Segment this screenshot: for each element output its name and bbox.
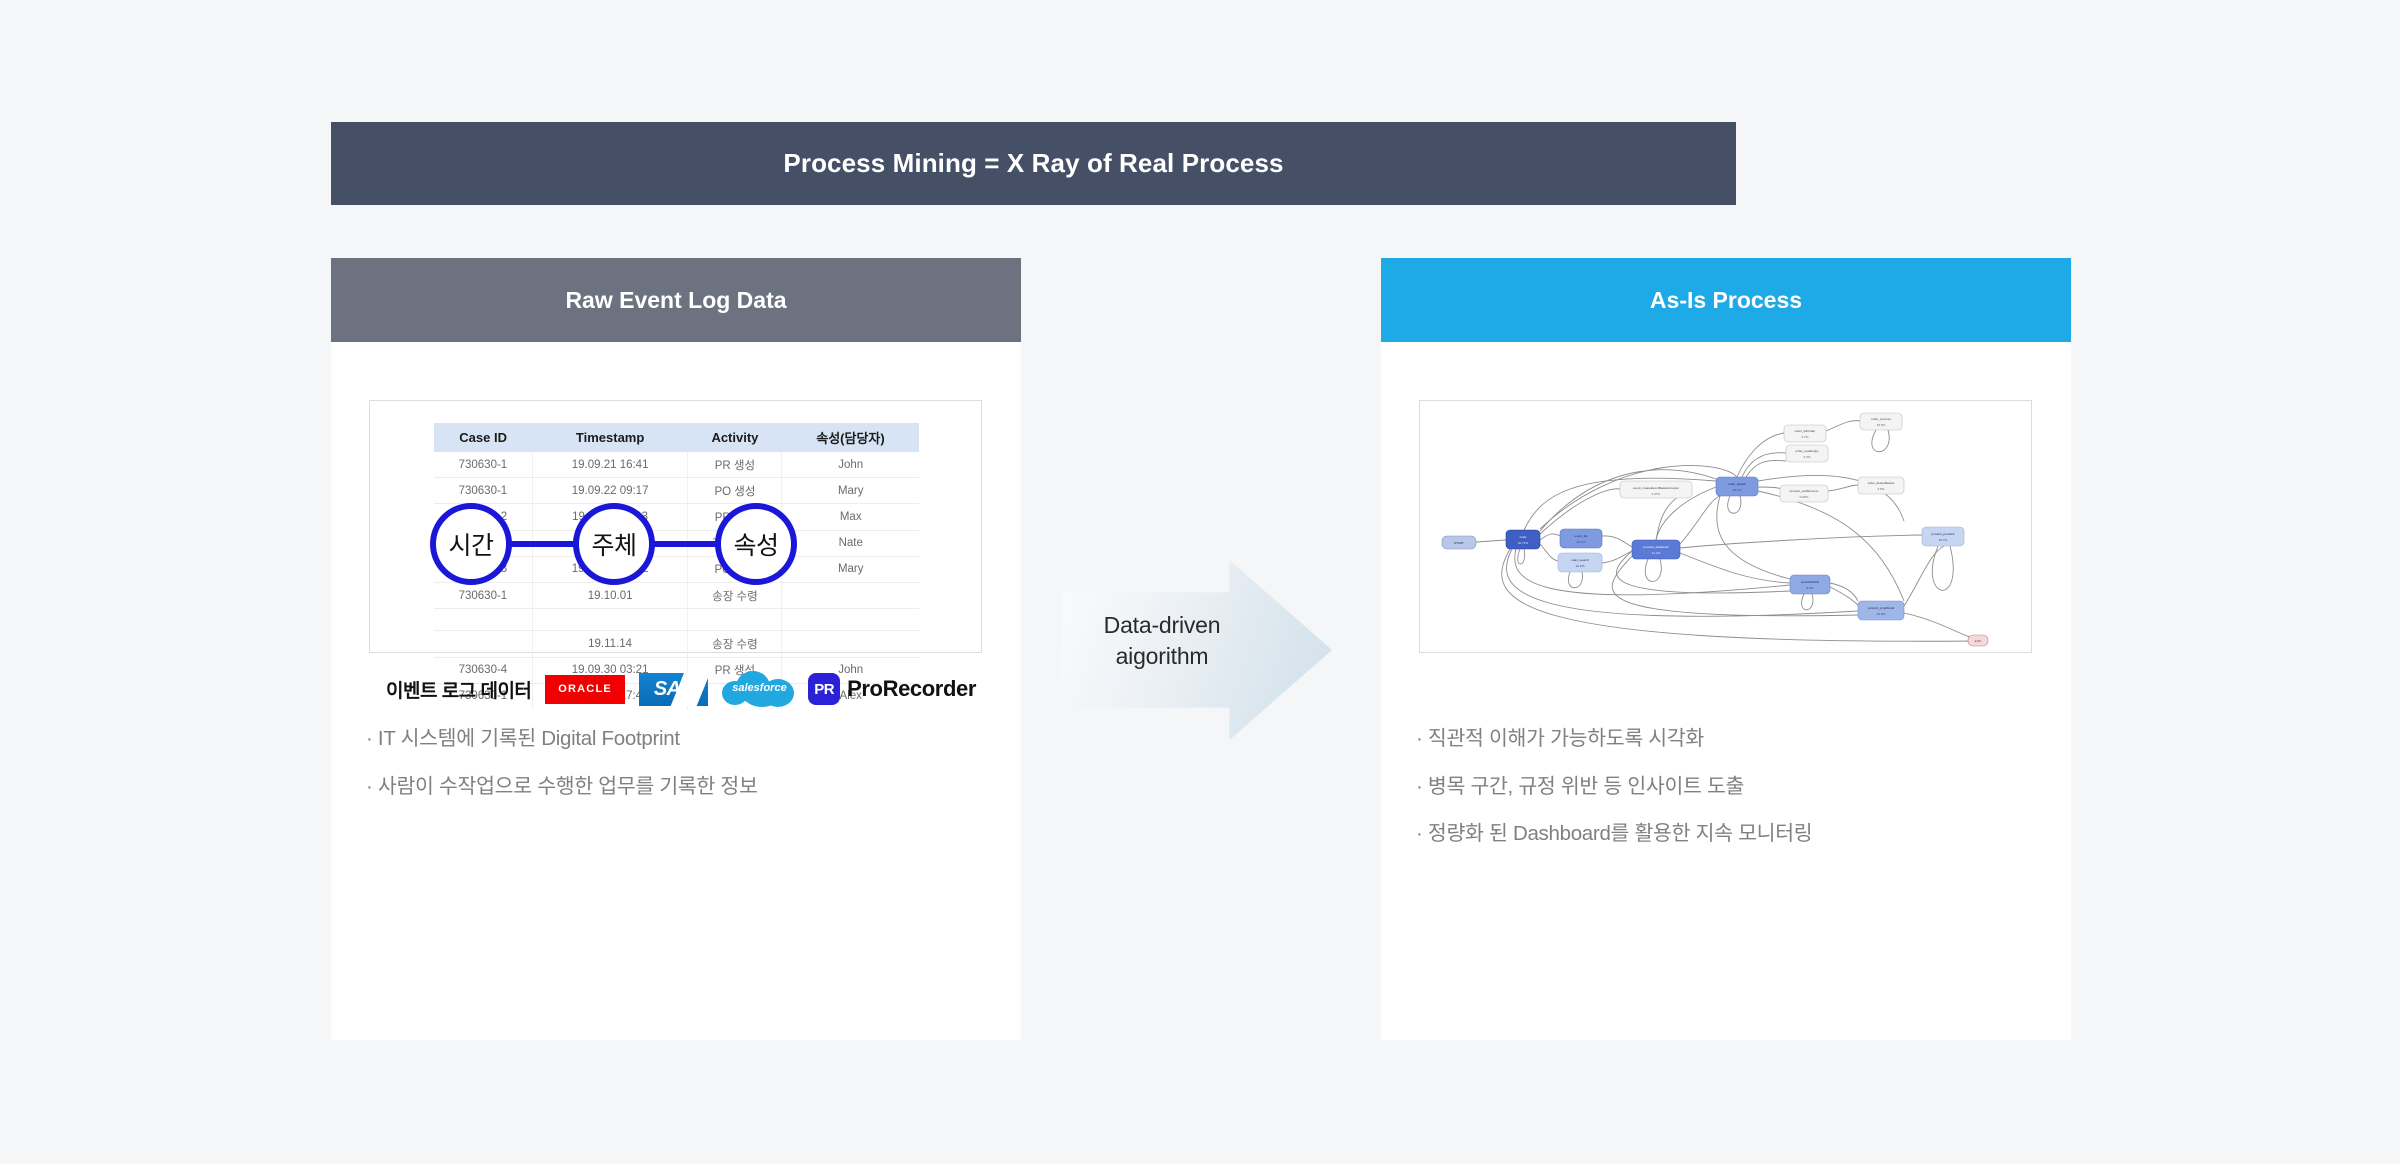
cell-attribute [782,582,919,608]
salesforce-logo: salesforce [722,669,794,709]
cell-attribute: Max [782,504,919,530]
svg-text:searchMobile: searchMobile [1801,580,1820,584]
svg-text:order_process: order_process [1871,417,1891,421]
logo-strip-caption: 이벤트 로그 데이터 [386,676,531,703]
cell-timestamp: 19.09.30 15:12 [532,530,688,556]
cell-activity: 송장 수령 [688,631,782,657]
table-row: 730630-2 19.10.03 11:03 PR 생성 Max [434,504,919,530]
cell-timestamp: 19.11.14 [532,631,688,657]
svg-text:3.4%: 3.4% [1803,455,1810,459]
arrow-label-line-1: Data-driven [1072,610,1252,641]
cell-activity: 자재 입고 [688,530,782,556]
cell-activity: PO 생성 [688,556,782,582]
svg-text:main_search: main_search [1571,558,1589,562]
svg-text:18.7%: 18.7% [1939,538,1948,542]
left-panel-title: Raw Event Log Data [565,287,786,314]
table-row: 730630-1 19.10.01 송장 수령 [434,582,919,608]
list-item: · 사람이 수작업으로 수행한 업무를 기록한 정보 [366,776,1006,798]
oracle-logo-text: ORACLE [558,683,612,695]
as-is-process-panel: As-Is Process [1381,258,2071,1040]
svg-text:product_prodDetail: product_prodDetail [1868,606,1894,610]
process-map-graph: START main 30.71% event_list 20.1% main_… [1420,401,2033,654]
cell-timestamp: 19.09.22 12:12 [532,556,688,582]
cell-attribute: Nate [782,530,919,556]
page-title: Process Mining = X Ray of Real Process [783,148,1283,179]
svg-text:0.90%: 0.90% [1800,495,1809,499]
svg-text:product_cartRemove: product_cartRemove [1790,489,1819,493]
svg-text:order_deleteBasket: order_deleteBasket [1868,481,1895,485]
cell-case-id: 730630-1 [434,530,532,556]
arrow-label: Data-driven aigorithm [1072,610,1252,672]
cell-case-id [434,609,532,631]
svg-text:15.5%: 15.5% [1877,423,1886,427]
svg-text:event_createEventBasketCoupon: event_createEventBasketCoupon [1633,486,1679,490]
svg-text:event_list: event_list [1574,534,1587,538]
svg-text:END: END [1975,639,1982,643]
right-panel-title: As-Is Process [1650,287,1802,314]
svg-text:30.71%: 30.71% [1518,541,1529,545]
column-header-case-id: Case ID [434,423,532,452]
cell-attribute: Mary [782,478,919,504]
cell-timestamp: 19.10.03 11:03 [532,504,688,530]
cell-attribute [782,631,919,657]
process-map-self-loops [1518,430,1953,610]
svg-text:3.6%: 3.6% [1877,487,1884,491]
svg-text:product_prodList: product_prodList [1931,532,1954,536]
svg-text:41.2%: 41.2% [1652,551,1661,555]
svg-text:0.47%: 0.47% [1652,492,1661,496]
svg-text:3.7%: 3.7% [1801,435,1808,439]
salesforce-logo-text: salesforce [722,682,796,694]
cell-attribute [782,609,919,631]
svg-text:24.2%: 24.2% [1576,564,1585,568]
svg-text:START: START [1454,541,1464,545]
list-item: · 정량화 된 Dashboard를 활용한 지속 모니터링 [1416,823,2056,845]
raw-event-log-panel: Raw Event Log Data Case ID Timestamp Act… [331,258,1021,1040]
left-panel-header: Raw Event Log Data [331,258,1021,342]
table-row: 730630-1 19.09.30 15:12 자재 입고 Nate [434,530,919,556]
svg-text:46.1%: 46.1% [1733,488,1742,492]
data-source-logo-strip: 이벤트 로그 데이터 ORACLE SAP salesforce PR ProR… [386,669,976,709]
table-row: 730630-1 19.09.22 09:17 PO 생성 Mary [434,478,919,504]
cell-case-id: 730630-1 [434,452,532,478]
cell-attribute: John [782,452,919,478]
list-item: · IT 시스템에 기록된 Digital Footprint [366,728,1006,750]
cell-activity [688,609,782,631]
cell-activity: PO 생성 [688,478,782,504]
column-header-timestamp: Timestamp [532,423,688,452]
page-title-strong: X Ray of Real Process [1007,148,1284,178]
cell-attribute: Mary [782,556,919,582]
cell-timestamp: 19.09.22 09:17 [532,478,688,504]
column-header-attribute: 속성(담당자) [782,423,919,452]
slide-title-bar: Process Mining = X Ray of Real Process [331,122,1736,205]
svg-text:main: main [1520,535,1527,539]
cell-timestamp: 19.10.01 [532,582,688,608]
table-row: 730630-1 19.09.21 16:41 PR 생성 John [434,452,919,478]
cell-case-id: 730630-1 [434,478,532,504]
svg-text:product_addtocart: product_addtocart [1644,545,1669,549]
right-panel-bullet-list: · 직관적 이해가 가능하도록 시각화 · 병목 구간, 규정 위반 등 인사이… [1416,728,2056,871]
svg-text:order_updateQty: order_updateQty [1795,449,1819,453]
right-panel-header: As-Is Process [1381,258,2071,342]
process-map-card: START main 30.71% event_list 20.1% main_… [1419,400,2032,653]
arrow-label-line-2: aigorithm [1072,641,1252,672]
table-header-row: Case ID Timestamp Activity 속성(담당자) [434,423,919,452]
prorecorder-logo: PR ProRecorder [808,673,976,705]
cell-activity: 송장 수령 [688,582,782,608]
svg-text:order_basket: order_basket [1728,482,1746,486]
cell-case-id: 730630-1 [434,582,532,608]
table-row [434,609,919,631]
svg-text:20.1%: 20.1% [1577,540,1586,544]
cell-activity: PR 생성 [688,452,782,478]
cell-case-id [434,631,532,657]
cell-timestamp: 19.09.21 16:41 [532,452,688,478]
cell-case-id: 730630-3 [434,556,532,582]
prorecorder-logo-text: ProRecorder [847,676,976,702]
cell-case-id: 730630-2 [434,504,532,530]
svg-text:order_listOrder: order_listOrder [1795,429,1816,433]
svg-text:32.9%: 32.9% [1877,612,1886,616]
cell-timestamp [532,609,688,631]
prorecorder-badge: PR [808,673,840,705]
event-log-table: Case ID Timestamp Activity 속성(담당자) 73063… [434,423,919,709]
left-panel-bullet-list: · IT 시스템에 기록된 Digital Footprint · 사람이 수작… [366,728,1006,823]
cell-activity: PR 생성 [688,504,782,530]
oracle-logo: ORACLE [545,675,624,704]
table-row: 19.11.14 송장 수령 [434,631,919,657]
slide-canvas: Process Mining = X Ray of Real Process R… [0,0,2400,1164]
table-row: 730630-3 19.09.22 12:12 PO 생성 Mary [434,556,919,582]
list-item: · 직관적 이해가 가능하도록 시각화 [1416,728,2056,750]
svg-text:9.2%: 9.2% [1806,586,1813,590]
sap-logo: SAP [639,673,709,706]
list-item: · 병목 구간, 규정 위반 등 인사이트 도출 [1416,776,2056,798]
column-header-activity: Activity [688,423,782,452]
page-title-plain: Process Mining = [783,148,1007,178]
event-log-table-card: Case ID Timestamp Activity 속성(담당자) 73063… [369,400,982,653]
sap-logo-text: SAP [654,678,694,701]
data-driven-algorithm-arrow: Data-driven aigorithm [1062,560,1332,740]
